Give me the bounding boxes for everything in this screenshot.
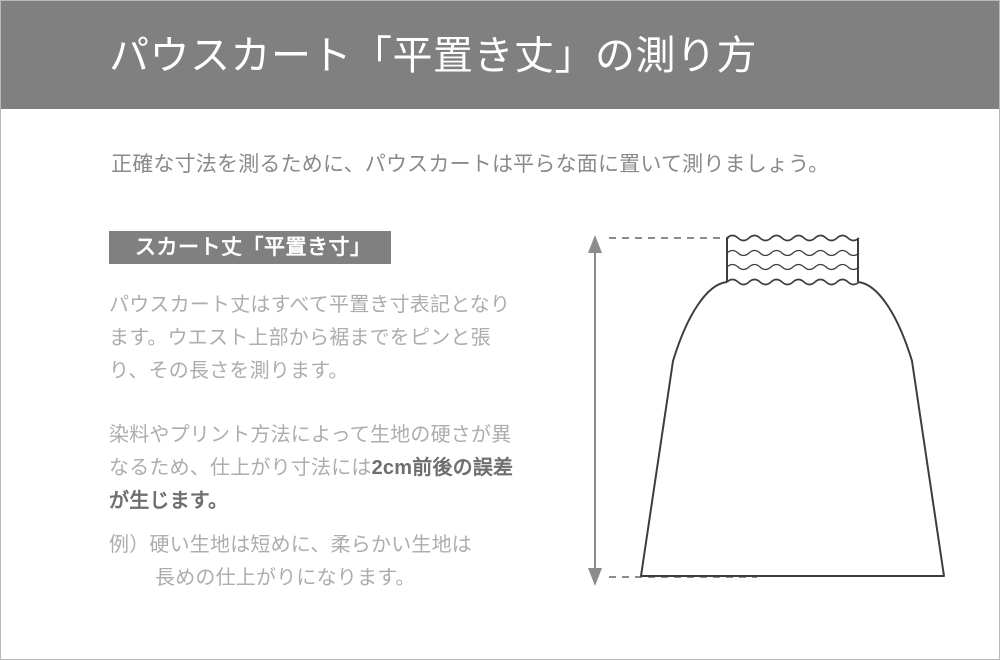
intro-text: 正確な寸法を測るために、パウスカートは平らな面に置いて測りましょう。: [111, 149, 829, 181]
paragraph-measurement-method: パウスカート丈はすべて平置き寸表記となります。ウエスト上部から裾までをピンと張り…: [109, 289, 529, 388]
waistband-wave-line-3: [727, 265, 859, 270]
arrow-head-up-icon: [588, 235, 602, 253]
skirt-body-outline: [641, 282, 944, 576]
section-badge-label: スカート丈「平置き寸」: [135, 235, 372, 260]
paragraph-example: 例）硬い生地は短めに、柔らかい生地は 長めの仕上がりになります。: [109, 529, 539, 595]
arrow-head-down-icon: [588, 568, 602, 586]
waistband: [727, 236, 859, 285]
waistband-wave-line-2: [727, 251, 859, 256]
instruction-card: パウスカート「平置き丈」の測り方 正確な寸法を測るために、パウスカートは平らな面…: [0, 0, 1000, 660]
paragraph-tolerance: 染料やプリント方法によって生地の硬さが異なるため、仕上がり寸法には2cm前後の誤…: [109, 419, 529, 518]
skirt-diagram: [561, 211, 981, 611]
paragraph-example-line-1: 例）硬い生地は短めに、柔らかい生地は: [109, 529, 539, 562]
waistband-wave-line-4: [727, 280, 859, 285]
header-band: パウスカート「平置き丈」の測り方: [1, 1, 1000, 109]
section-badge: スカート丈「平置き寸」: [109, 231, 391, 264]
page-title: パウスカート「平置き丈」の測り方: [109, 36, 757, 76]
skirt-diagram-svg: [561, 211, 981, 611]
waistband-wave-line-1: [727, 236, 859, 241]
length-measure-arrow: [588, 235, 602, 586]
paragraph-example-line-2: 長めの仕上がりになります。: [109, 562, 539, 595]
